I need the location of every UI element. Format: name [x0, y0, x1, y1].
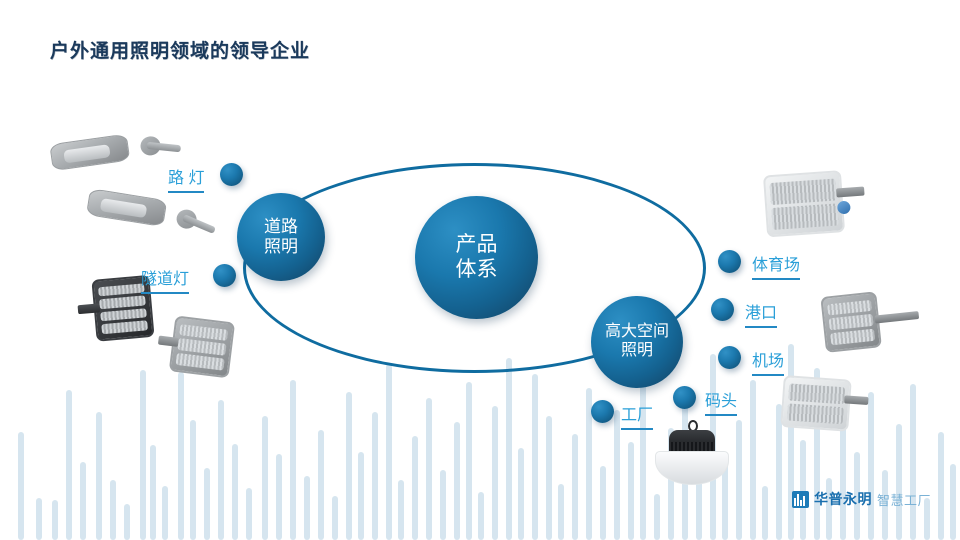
- airport-flood-light-photo: [780, 375, 869, 433]
- flood-knob: [837, 201, 851, 215]
- decor-bar: [218, 400, 224, 540]
- flood-bracket: [875, 311, 920, 324]
- dot-factory[interactable]: [591, 400, 614, 423]
- decor-bar: [826, 478, 832, 540]
- decor-bar: [332, 496, 338, 540]
- decor-bar: [386, 364, 392, 540]
- led-module: [98, 283, 145, 296]
- node-high-space-lighting[interactable]: 高大空间 照明: [591, 296, 683, 388]
- flood-body: [820, 291, 882, 353]
- lamp-head: [86, 188, 167, 227]
- highbay-dome: [655, 451, 729, 485]
- dot-airport[interactable]: [718, 346, 741, 369]
- decor-bar: [18, 432, 24, 540]
- logo-mark-icon: [792, 491, 809, 508]
- led-module: [176, 353, 225, 370]
- decor-bar: [318, 430, 324, 540]
- led-module: [787, 403, 844, 424]
- tunnel-flood-light-photo-2: [155, 314, 235, 379]
- decor-bar: [938, 432, 944, 540]
- dot-port[interactable]: [711, 298, 734, 321]
- high-bay-light-photo: [655, 420, 729, 486]
- decor-bar: [614, 410, 620, 540]
- flood-bracket: [78, 303, 101, 314]
- decor-bar: [96, 412, 102, 540]
- decor-bar: [304, 476, 310, 540]
- decor-bar: [150, 445, 156, 540]
- decor-bar: [412, 436, 418, 540]
- led-module: [788, 383, 845, 404]
- decor-bar: [162, 486, 168, 540]
- decor-bar: [454, 422, 460, 540]
- decor-bar: [546, 416, 552, 540]
- decor-bar: [232, 444, 238, 540]
- label-airport[interactable]: 机场: [752, 347, 784, 376]
- decor-bar: [640, 366, 646, 540]
- decor-bar: [506, 358, 512, 540]
- decor-bar: [52, 500, 58, 540]
- decor-bar: [246, 488, 252, 540]
- decor-bar: [910, 384, 916, 540]
- decor-bar: [290, 380, 296, 540]
- decor-bar: [492, 406, 498, 540]
- decor-bar: [736, 420, 742, 540]
- decor-bar: [478, 492, 484, 540]
- label-street-light[interactable]: 路 灯: [168, 164, 204, 193]
- logo-brand-text: 华普永明: [814, 489, 872, 509]
- decor-bar: [572, 434, 578, 540]
- page-title: 户外通用照明领域的领导企业: [50, 36, 310, 63]
- led-module: [827, 299, 872, 315]
- decor-bar: [532, 374, 538, 540]
- decor-bar: [140, 370, 146, 540]
- led-module: [100, 308, 147, 321]
- decor-bar: [518, 448, 524, 540]
- decor-bar: [950, 464, 956, 540]
- label-stadium[interactable]: 体育场: [752, 251, 800, 280]
- decor-bar: [276, 454, 282, 540]
- dot-street-light[interactable]: [220, 163, 243, 186]
- decor-bar: [868, 392, 874, 540]
- decor-bar: [178, 372, 184, 540]
- decor-bar: [204, 468, 210, 540]
- decor-bar: [80, 462, 86, 540]
- decor-bar: [558, 484, 564, 540]
- lamp-lens: [100, 198, 147, 218]
- decor-bar: [788, 344, 794, 540]
- decor-bar: [762, 486, 768, 540]
- decor-bar: [124, 504, 130, 540]
- flood-bracket: [836, 187, 865, 198]
- label-port[interactable]: 港口: [745, 299, 777, 328]
- logo-sub-text: 智慧工厂: [877, 490, 931, 509]
- decor-bar: [110, 480, 116, 540]
- label-factory[interactable]: 工厂: [621, 401, 653, 430]
- led-module: [769, 178, 836, 205]
- port-flood-light-photo: [820, 287, 921, 353]
- label-tunnel-light[interactable]: 隧道灯: [141, 265, 189, 294]
- decor-bar: [466, 382, 472, 540]
- decor-bar: [654, 494, 660, 540]
- flood-bracket: [844, 395, 868, 405]
- decor-bar: [358, 452, 364, 540]
- flood-body: [763, 170, 845, 237]
- decor-bar: [896, 424, 902, 540]
- decor-bar: [628, 442, 634, 540]
- led-module: [829, 314, 874, 330]
- dot-stadium[interactable]: [718, 250, 741, 273]
- stadium-flood-light-photo: [763, 169, 867, 238]
- dot-wharf[interactable]: [673, 386, 696, 409]
- center-node-product-system[interactable]: 产品 体系: [415, 196, 538, 319]
- led-module: [830, 329, 875, 345]
- street-lamp-photo-1: [49, 130, 158, 190]
- decor-bar: [426, 398, 432, 540]
- street-lamp-photo-2: [83, 188, 193, 250]
- slide-canvas: 户外通用照明领域的领导企业: [0, 0, 960, 540]
- decor-bar: [262, 416, 268, 540]
- decor-bar: [440, 470, 446, 540]
- decor-bar: [398, 480, 404, 540]
- lamp-head: [49, 134, 130, 172]
- dot-tunnel-light[interactable]: [213, 264, 236, 287]
- decor-bar: [36, 498, 42, 540]
- company-logo: 华普永明 智慧工厂: [792, 489, 931, 509]
- lamp-lens: [63, 144, 110, 163]
- node-road-lighting[interactable]: 道路 照明: [237, 193, 325, 281]
- flood-body: [780, 375, 851, 432]
- flood-body: [169, 315, 235, 378]
- led-module: [101, 320, 148, 333]
- decor-bar: [190, 420, 196, 540]
- decor-bar: [66, 390, 72, 540]
- flood-bracket: [158, 336, 179, 347]
- label-wharf[interactable]: 码头: [705, 387, 737, 416]
- decor-bar: [372, 412, 378, 540]
- decor-bar: [750, 380, 756, 540]
- led-module: [771, 203, 838, 230]
- decor-bar: [600, 466, 606, 540]
- led-module: [99, 295, 146, 308]
- decor-bar: [346, 392, 352, 540]
